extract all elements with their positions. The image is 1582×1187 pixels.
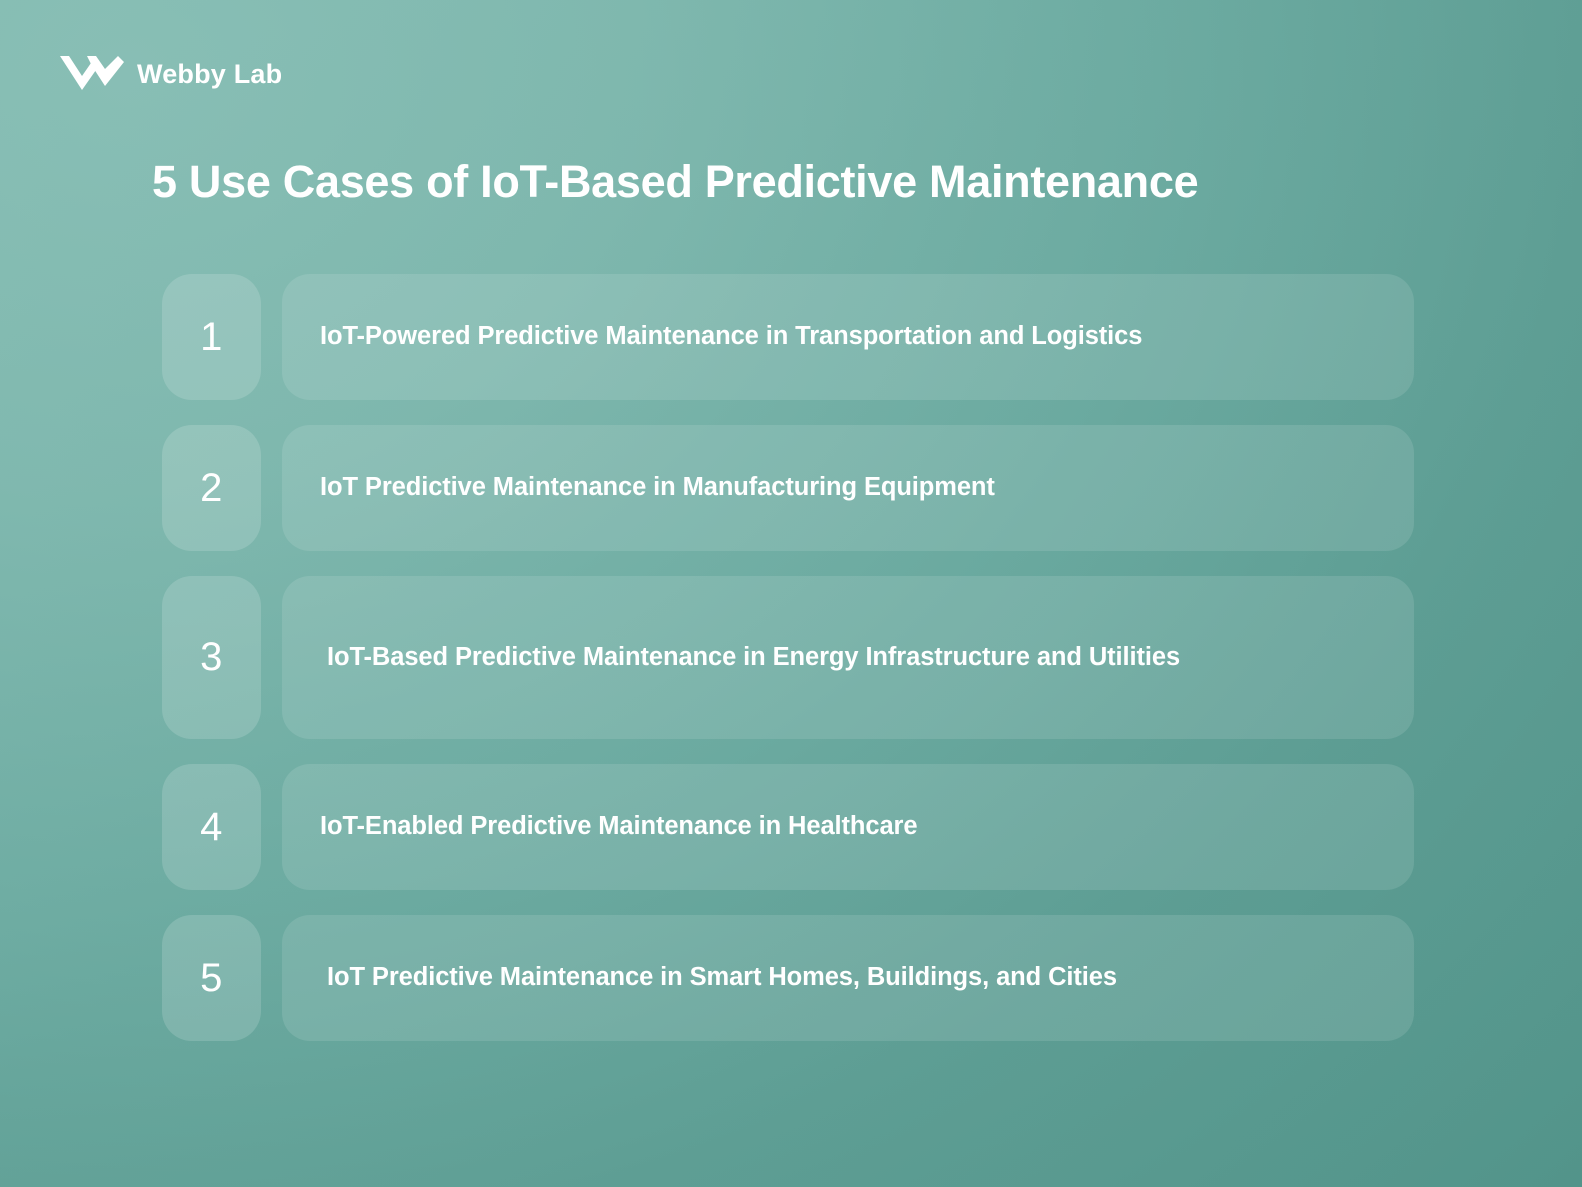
brand-name: Webby Lab: [137, 59, 282, 90]
item-number-badge: 3: [162, 576, 261, 739]
item-card[interactable]: IoT-Powered Predictive Maintenance in Tr…: [282, 274, 1414, 400]
brand-logo[interactable]: Webby Lab: [60, 52, 282, 96]
item-card[interactable]: IoT-Enabled Predictive Maintenance in He…: [282, 764, 1414, 890]
item-label: IoT Predictive Maintenance in Smart Home…: [320, 960, 1117, 996]
item-card[interactable]: IoT-Based Predictive Maintenance in Ener…: [282, 576, 1414, 739]
item-number-badge: 1: [162, 274, 261, 400]
use-case-list: 1 IoT-Powered Predictive Maintenance in …: [162, 274, 1414, 1041]
page-title: 5 Use Cases of IoT-Based Predictive Main…: [152, 155, 1452, 208]
item-label: IoT-Enabled Predictive Maintenance in He…: [320, 809, 917, 845]
item-card[interactable]: IoT Predictive Maintenance in Smart Home…: [282, 915, 1414, 1041]
item-label: IoT-Powered Predictive Maintenance in Tr…: [320, 319, 1142, 355]
item-number-badge: 4: [162, 764, 261, 890]
item-label: IoT Predictive Maintenance in Manufactur…: [320, 470, 995, 506]
slide-canvas: Webby Lab 5 Use Cases of IoT-Based Predi…: [0, 0, 1582, 1187]
item-number-badge: 5: [162, 915, 261, 1041]
list-item[interactable]: 1 IoT-Powered Predictive Maintenance in …: [162, 274, 1414, 400]
list-item[interactable]: 4 IoT-Enabled Predictive Maintenance in …: [162, 764, 1414, 890]
list-item[interactable]: 3 IoT-Based Predictive Maintenance in En…: [162, 576, 1414, 739]
webbylab-chevron-logo-icon: [60, 52, 124, 96]
item-number-badge: 2: [162, 425, 261, 551]
item-card[interactable]: IoT Predictive Maintenance in Manufactur…: [282, 425, 1414, 551]
list-item[interactable]: 2 IoT Predictive Maintenance in Manufact…: [162, 425, 1414, 551]
list-item[interactable]: 5 IoT Predictive Maintenance in Smart Ho…: [162, 915, 1414, 1041]
item-label: IoT-Based Predictive Maintenance in Ener…: [320, 640, 1180, 676]
